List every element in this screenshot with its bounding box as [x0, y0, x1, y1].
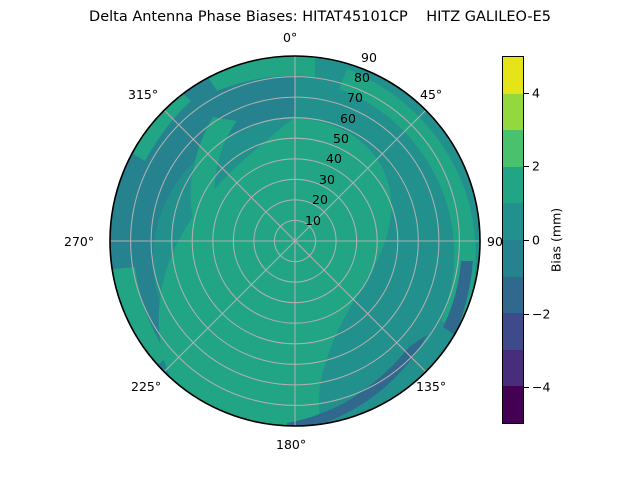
colorbar-tick-label-m4: −4: [532, 380, 550, 395]
r-tick-label-70: 70: [347, 90, 363, 105]
colorbar-band-2: [503, 130, 523, 167]
colorbar-tick-label-m2: −2: [532, 306, 550, 321]
colorbar-band-9: [503, 386, 523, 423]
r-tick-label-90: 90: [361, 50, 377, 65]
theta-tick-label-45: 45°: [420, 87, 442, 102]
r-tick-label-30: 30: [319, 172, 335, 187]
colorbar-tick-0: [524, 240, 529, 241]
colorbar-band-4: [503, 203, 523, 240]
theta-tick-label-90: 90: [487, 234, 503, 249]
colorbar-gradient: [502, 56, 524, 424]
theta-tick-label-135: 135°: [416, 379, 446, 394]
colorbar-tick-label-0: 0: [532, 233, 540, 248]
colorbar-tick-m4: [524, 387, 529, 388]
colorbar-band-3: [503, 167, 523, 204]
r-tick-label-50: 50: [333, 131, 349, 146]
colorbar-tick-label-2: 2: [532, 159, 540, 174]
colorbar-tick-m2: [524, 314, 529, 315]
r-tick-label-10: 10: [305, 213, 321, 228]
colorbar-band-5: [503, 240, 523, 277]
colorbar-tick-label-4: 4: [532, 85, 540, 100]
colorbar-band-0: [503, 57, 523, 94]
colorbar: 4 2 0 −2 −4: [502, 56, 524, 424]
theta-tick-label-270: 270°: [64, 234, 94, 249]
colorbar-band-1: [503, 94, 523, 131]
colorbar-band-6: [503, 277, 523, 314]
theta-tick-label-225: 225°: [131, 379, 161, 394]
r-tick-label-60: 60: [340, 111, 356, 126]
theta-tick-label-0: 0°: [283, 30, 297, 45]
colorbar-tick-4: [524, 93, 529, 94]
polar-plot-svg: [109, 55, 481, 427]
theta-tick-label-315: 315°: [128, 87, 158, 102]
colorbar-band-7: [503, 313, 523, 350]
polar-grid-spokes: [110, 56, 480, 426]
r-tick-label-80: 80: [354, 70, 370, 85]
colorbar-axis-label: Bias (mm): [549, 208, 564, 272]
theta-tick-label-180: 180°: [276, 437, 306, 452]
colorbar-band-8: [503, 350, 523, 387]
r-tick-label-40: 40: [326, 151, 342, 166]
colorbar-tick-2: [524, 166, 529, 167]
r-tick-label-20: 20: [312, 192, 328, 207]
polar-plot: 10 20 30 40 50 60 70 80 90: [109, 55, 481, 427]
page-title: Delta Antenna Phase Biases: HITAT45101CP…: [0, 9, 640, 25]
